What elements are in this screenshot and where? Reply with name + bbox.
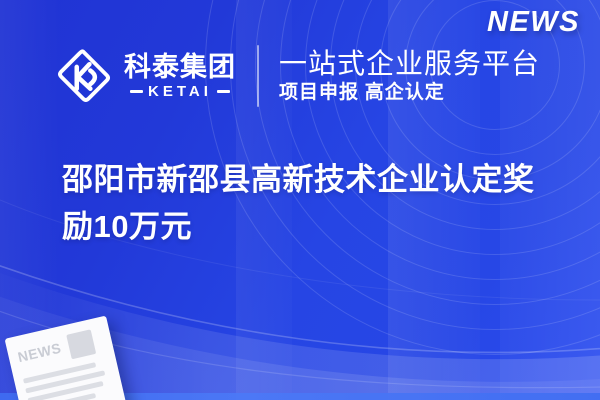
brand-logo[interactable]: 科泰集团 KETAI: [55, 47, 236, 105]
tagline-main: 一站式企业服务平台: [279, 49, 540, 78]
brand-name-cn: 科泰集团: [124, 54, 236, 81]
wordmark-rule-right: [217, 90, 230, 93]
tagline-sub: 项目申报 高企认定: [279, 83, 540, 103]
news-banner: 科泰集团 KETAI 一站式企业服务平台 项目申报 高企认定 NEWS 邵阳市新…: [0, 0, 600, 400]
brand-wordmark: 科泰集团 KETAI: [124, 54, 236, 99]
wordmark-rule-left: [130, 90, 143, 93]
header-divider: [257, 45, 259, 107]
brand-name-en: KETAI: [148, 84, 212, 99]
page-title: 邵阳市新邵县高新技术企业认定奖励10万元: [62, 156, 562, 250]
tagline-block: 一站式企业服务平台 项目申报 高企认定: [279, 49, 540, 103]
kd-diamond-monogram-icon: [55, 47, 113, 105]
news-badge: NEWS: [487, 6, 580, 39]
banner-header: 科泰集团 KETAI 一站式企业服务平台 项目申报 高企认定: [0, 30, 600, 122]
brand-name-en-row: KETAI: [124, 84, 236, 99]
newspaper-masthead: NEWS: [16, 337, 63, 364]
newspaper-icon: NEWS: [5, 316, 128, 400]
newspaper-thumbnail: [66, 329, 96, 359]
